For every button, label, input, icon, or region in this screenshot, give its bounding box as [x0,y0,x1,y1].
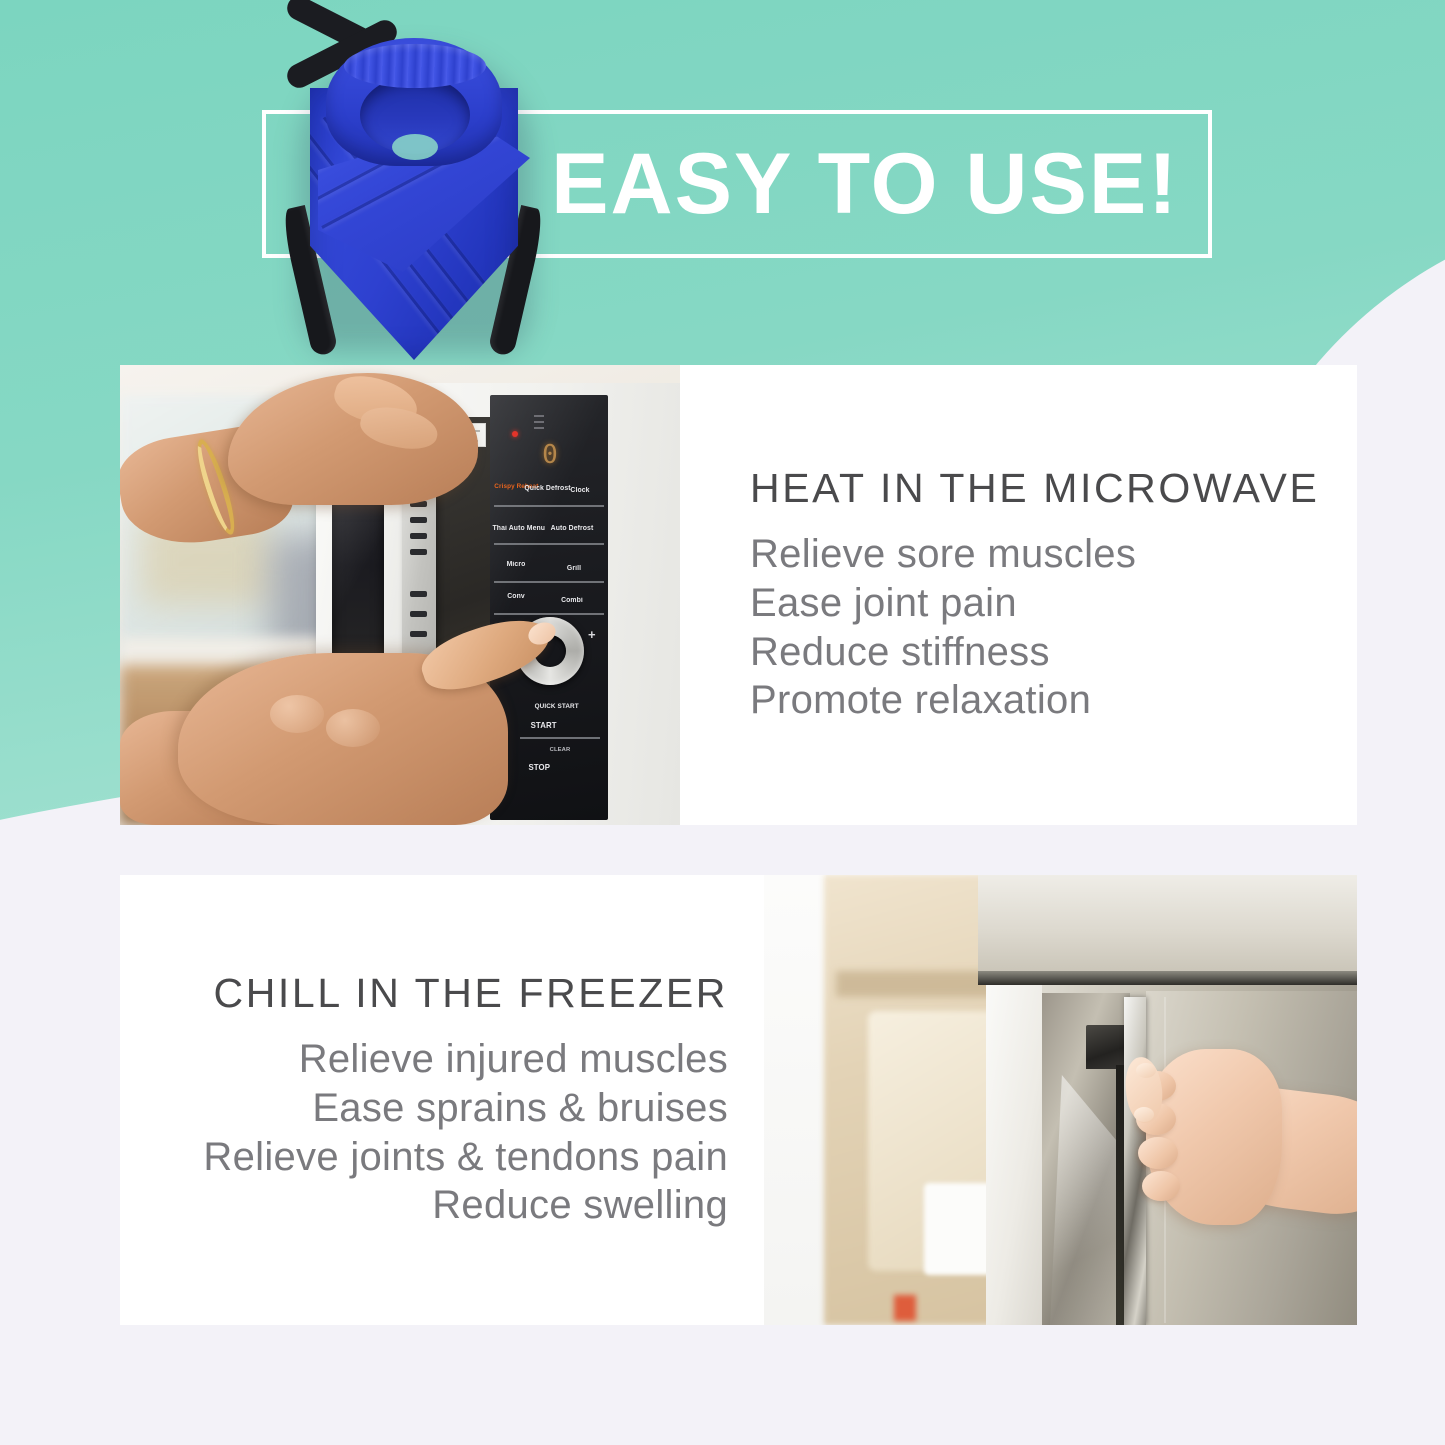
freezer-top-compartment [978,875,1357,975]
microwave-indicator-led [512,431,518,437]
chill-bullet-3: Relieve joints & tendons pain [140,1133,728,1182]
panel-chill-freezer: CHILL IN THE FREEZER Relieve injured mus… [120,875,1357,1325]
microwave-button-thai-auto-menu[interactable]: Thai Auto Menu [493,525,542,532]
microwave-dial-plus[interactable]: + [588,627,596,642]
refrigerator-photo [764,875,1357,1325]
panel-heat-microwave: 0 Crispy Reheat Quick Defrost Clock Thai… [120,365,1357,825]
microwave-display: 0 [528,435,572,475]
panel-divider-5 [520,737,600,739]
kitchen-wall [764,875,826,1325]
infographic-page: EASY TO USE! [0,0,1445,1445]
heat-microwave-heading: HEAT IN THE MICROWAVE [750,465,1338,512]
microwave-button-combi[interactable]: Combi [552,597,591,604]
red-object [894,1295,916,1321]
white-container [924,1183,992,1275]
page-title: EASY TO USE! [520,128,1210,240]
microwave-button-auto-defrost[interactable]: Auto Defrost [545,525,600,532]
panel-divider-2 [494,543,604,545]
product-collar-gap [392,134,438,160]
chill-bullet-4: Reduce swelling [140,1181,728,1230]
background-lavender-band-right [1357,430,1445,1445]
freezer-door-seam [978,971,1357,985]
heat-bullet-2: Ease joint pain [750,579,1338,628]
product-image-neck-wrap [282,18,544,363]
heat-bullet-4: Promote relaxation [750,676,1338,725]
chill-freezer-heading: CHILL IN THE FREEZER [140,970,728,1017]
microwave-button-micro[interactable]: Micro [496,561,535,568]
finger-4 [1142,1171,1180,1201]
microwave-button-crispy-reheat[interactable]: Crispy Reheat [494,483,523,490]
microwave-button-quick-start[interactable]: QUICK START [535,703,594,710]
microwave-button-stop[interactable]: STOP [528,763,575,772]
chill-bullet-1: Relieve injured muscles [140,1035,728,1084]
microwave-photo: 0 Crispy Reheat Quick Defrost Clock Thai… [120,365,680,825]
chill-freezer-text-block: CHILL IN THE FREEZER Relieve injured mus… [140,875,740,1325]
panel-divider-3 [494,581,604,583]
microwave-button-quick-defrost[interactable]: Quick Defrost [524,485,559,492]
heat-bullet-1: Relieve sore muscles [750,530,1338,579]
product-collar-elastic-gather [344,44,486,88]
panel-divider-4 [494,613,604,615]
refrigerator-door-side [986,985,1042,1325]
chill-bullet-2: Ease sprains & bruises [140,1084,728,1133]
finger-3 [1138,1137,1178,1169]
microwave-button-grill[interactable]: Grill [554,565,593,572]
fingernail-1 [1136,1063,1156,1078]
microwave-button-clock[interactable]: Clock [564,487,595,494]
panel-divider-1 [494,505,604,507]
heat-microwave-text-block: HEAT IN THE MICROWAVE Relieve sore muscl… [738,365,1338,825]
fingernail-2 [1134,1107,1154,1122]
microwave-button-start[interactable]: START [531,721,590,730]
microwave-button-clear[interactable]: CLEAR [540,747,579,753]
microwave-button-conv[interactable]: Conv [496,593,535,600]
heat-bullet-3: Reduce stiffness [750,628,1338,677]
